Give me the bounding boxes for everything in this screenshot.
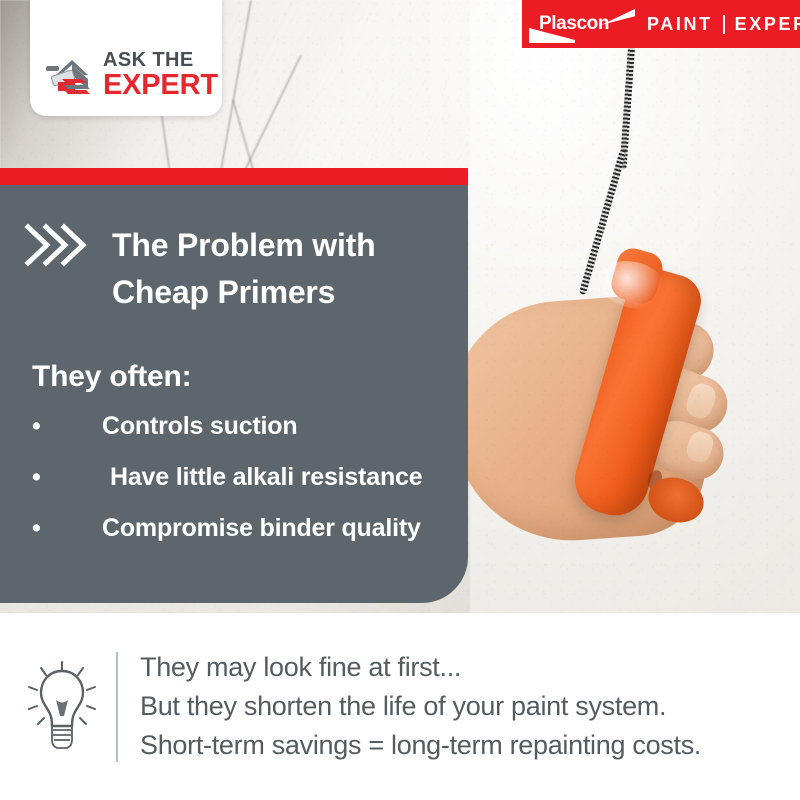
bullet-marker-icon [32,414,102,439]
badge-line-expert: EXPERT [103,71,218,100]
ask-the-expert-badge: ASK THE EXPERT [30,0,222,116]
bullet-label: Controls suction [102,412,462,441]
heading-line-2: Cheap Primers [112,269,442,316]
card-accent-bar [0,168,468,185]
tagline-expert: EXPERT [735,14,800,35]
plascon-brand-banner: Plascon PAINT EXPERT [522,0,800,48]
plascon-tagline: PAINT EXPERT [647,14,800,35]
badge-wordmark: ASK THE EXPERT [103,50,218,100]
heading-line-1: The Problem with [112,222,442,269]
lightbulb-icon [26,660,98,754]
footer-line-2: But they shorten the life of your paint … [140,687,701,726]
list-item: Controls suction [32,412,462,441]
footer-text-block: They may look fine at first... But they … [140,648,701,765]
list-item: Compromise binder quality [32,514,462,543]
triple-chevron-right-icon [24,222,88,268]
footer-line-1: They may look fine at first... [140,648,701,687]
bullet-marker-icon [32,465,102,490]
card-bullet-list: Controls suction Have little alkali resi… [32,412,462,565]
plascon-logo: Plascon [539,7,631,41]
footer-line-3: Short-term savings = long-term repaintin… [140,726,701,765]
card-intro-text: They often: [32,360,191,394]
list-item: Have little alkali resistance [32,463,462,492]
card-heading: The Problem with Cheap Primers [112,222,442,315]
badge-content: ASK THE EXPERT [30,50,218,100]
footer-divider [116,652,118,762]
bullet-label: Have little alkali resistance [102,463,462,492]
plascon-wordmark: Plascon [539,13,609,35]
bullet-label: Compromise binder quality [102,514,462,543]
house-paint-roller-icon [42,53,98,97]
footer-takeaway: They may look fine at first... But they … [0,613,800,800]
poster-canvas: ASK THE EXPERT Plascon PAINT EXPERT The … [0,0,800,800]
badge-line-ask-the: ASK THE [103,50,218,70]
bullet-marker-icon [32,516,102,541]
tagline-divider [723,15,725,34]
tagline-paint: PAINT [647,14,713,35]
